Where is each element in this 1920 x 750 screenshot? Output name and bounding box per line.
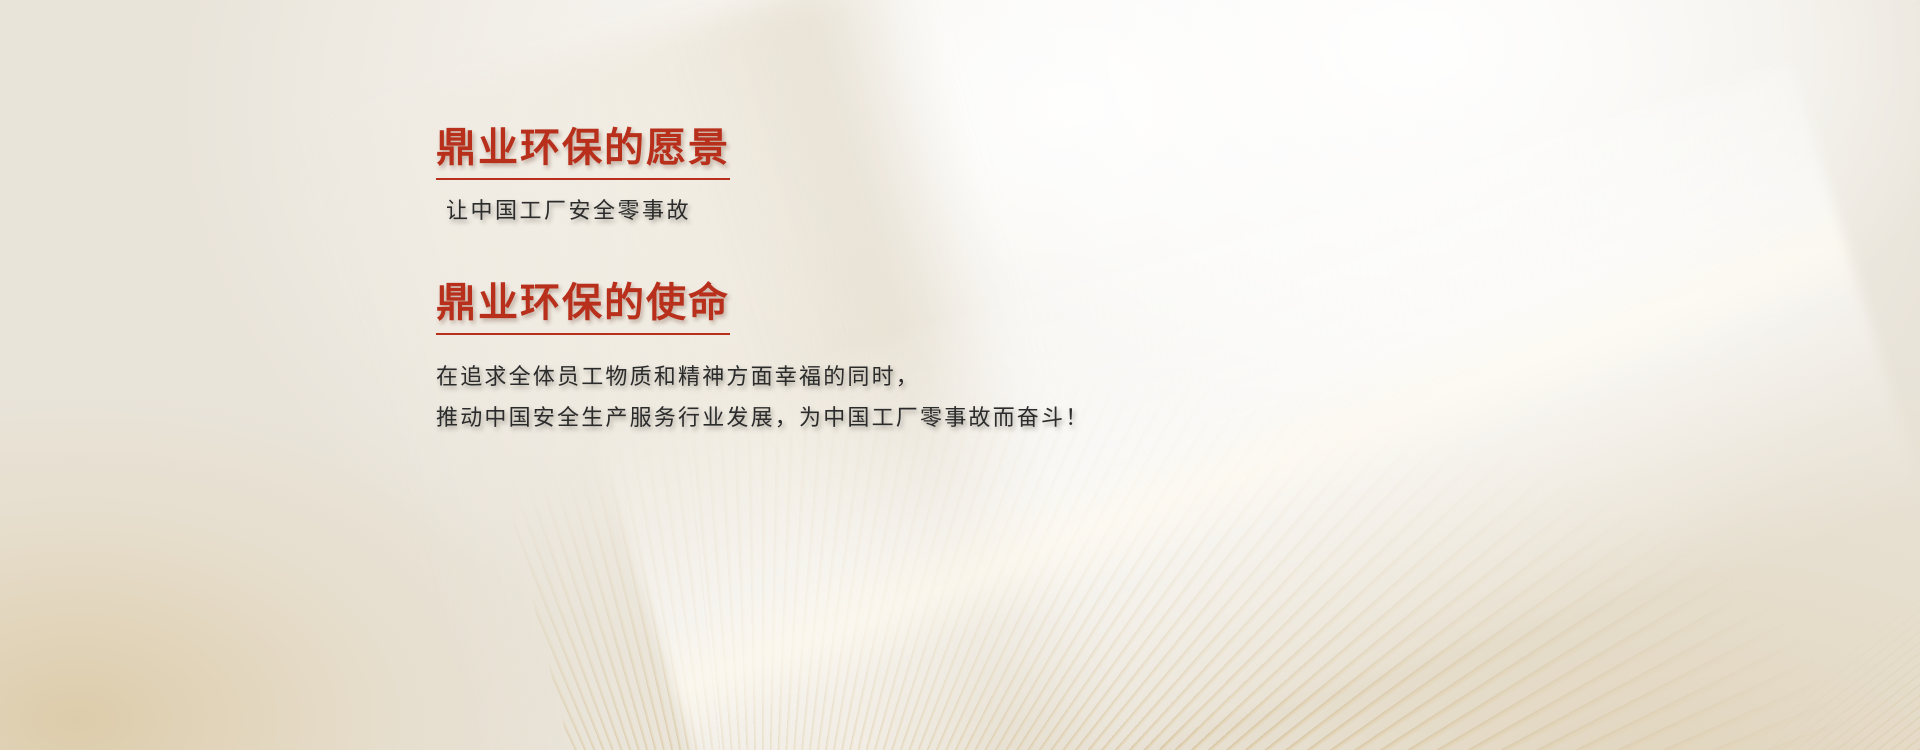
banner-content: 鼎业环保的愿景 让中国工厂安全零事故 鼎业环保的使命 在追求全体员工物质和精神方… xyxy=(436,126,1536,439)
mission-heading: 鼎业环保的使命 xyxy=(436,281,730,335)
mission-body-line-1: 在追求全体员工物质和精神方面幸福的同时， xyxy=(436,357,1536,398)
vision-block: 鼎业环保的愿景 让中国工厂安全零事故 xyxy=(436,126,1536,225)
vision-subtitle: 让中国工厂安全零事故 xyxy=(446,197,1536,226)
vision-heading: 鼎业环保的愿景 xyxy=(436,126,730,180)
mission-body-line-2: 推动中国安全生产服务行业发展，为中国工厂零事故而奋斗！ xyxy=(436,398,1536,439)
mission-body: 在追求全体员工物质和精神方面幸福的同时， 推动中国安全生产服务行业发展，为中国工… xyxy=(436,357,1536,438)
company-vision-mission-banner: 鼎业环保的愿景 让中国工厂安全零事故 鼎业环保的使命 在追求全体员工物质和精神方… xyxy=(0,0,1920,750)
mission-block: 鼎业环保的使命 在追求全体员工物质和精神方面幸福的同时， 推动中国安全生产服务行… xyxy=(436,281,1536,438)
